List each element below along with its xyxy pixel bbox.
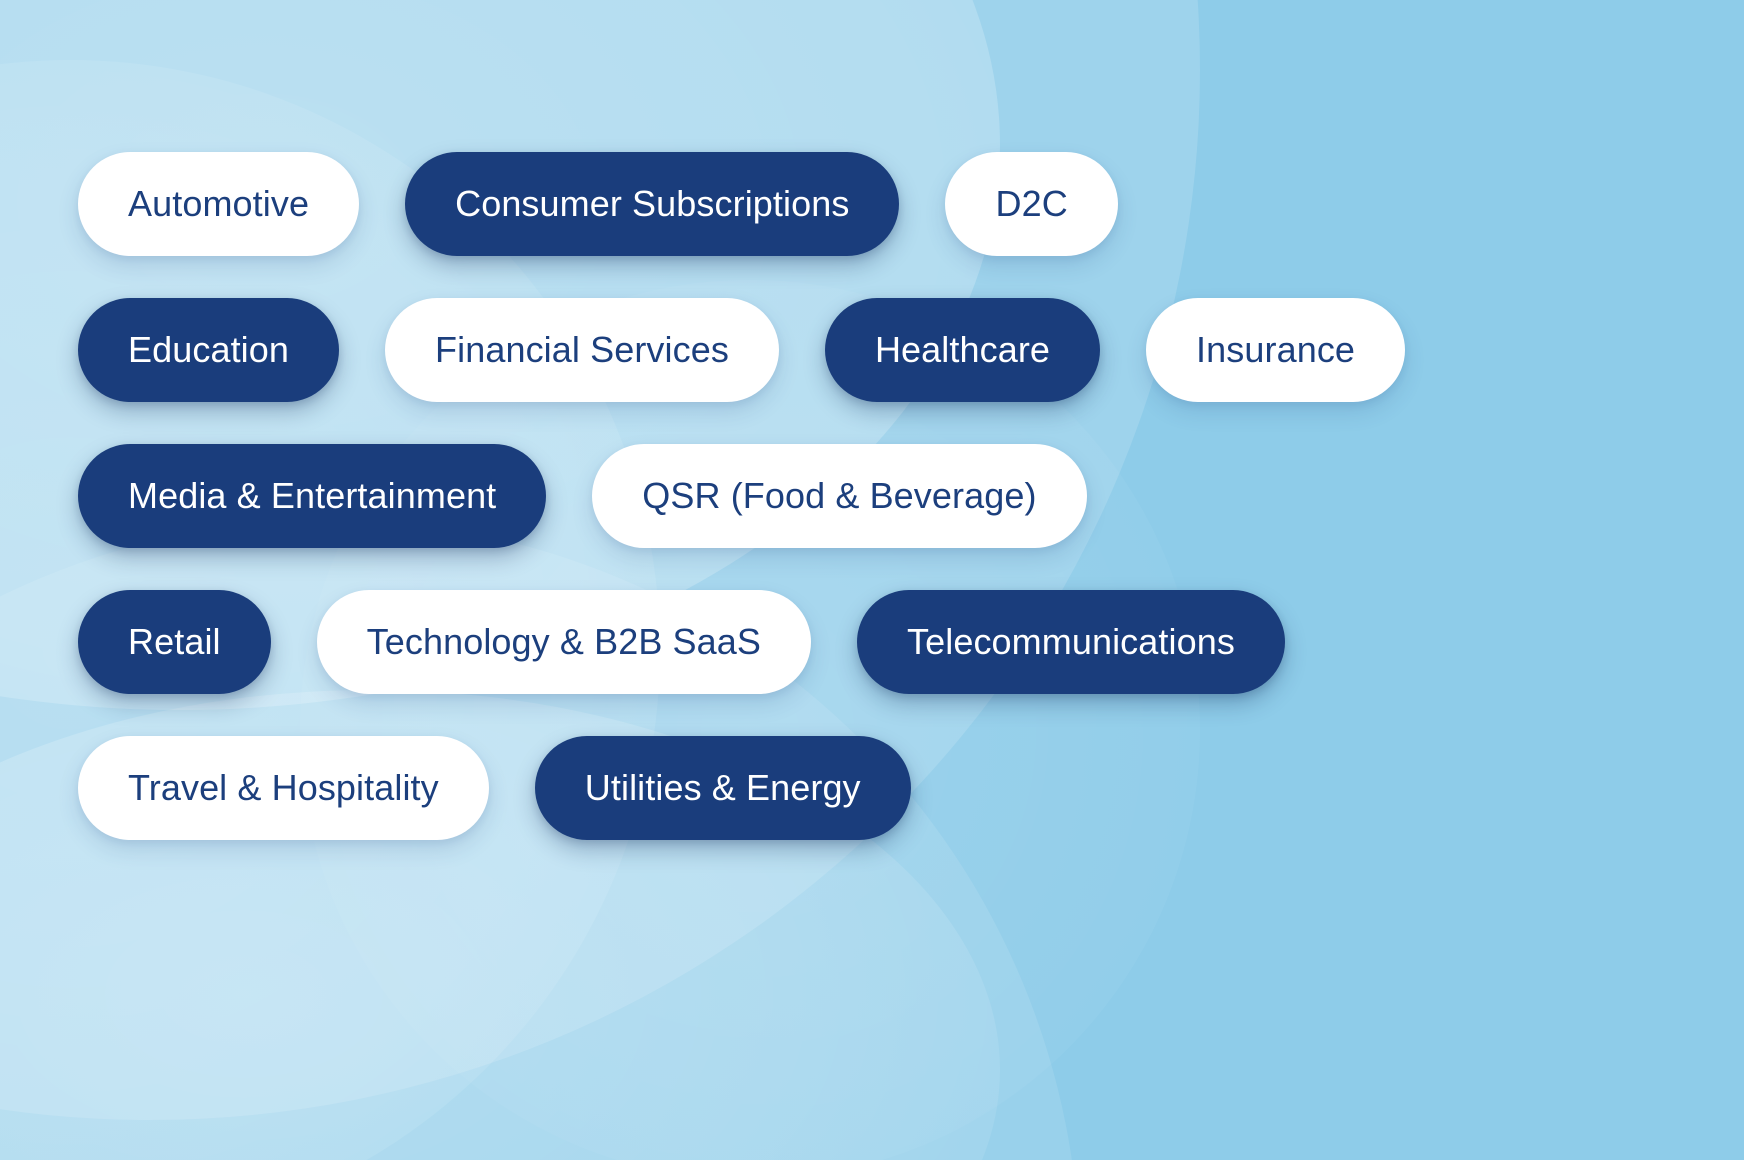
tag-insurance[interactable]: Insurance bbox=[1146, 298, 1405, 402]
tag-healthcare[interactable]: Healthcare bbox=[825, 298, 1100, 402]
tag-travel-and-hospitality[interactable]: Travel & Hospitality bbox=[78, 736, 489, 840]
tag-automotive[interactable]: Automotive bbox=[78, 152, 359, 256]
tag-label: Insurance bbox=[1196, 332, 1355, 368]
tag-row: Automotive Consumer Subscriptions D2C bbox=[78, 152, 1538, 256]
tag-row: Travel & Hospitality Utilities & Energy bbox=[78, 736, 1538, 840]
tag-telecommunications[interactable]: Telecommunications bbox=[857, 590, 1285, 694]
tag-row: Retail Technology & B2B SaaS Telecommuni… bbox=[78, 590, 1538, 694]
tag-label: Automotive bbox=[128, 186, 309, 222]
tag-label: Healthcare bbox=[875, 332, 1050, 368]
tag-label: Travel & Hospitality bbox=[128, 770, 439, 806]
tag-label: Telecommunications bbox=[907, 624, 1235, 660]
industry-tag-cloud-canvas: Automotive Consumer Subscriptions D2C Ed… bbox=[0, 0, 1744, 1160]
tag-qsr-food-and-beverage[interactable]: QSR (Food & Beverage) bbox=[592, 444, 1086, 548]
tag-label: Education bbox=[128, 332, 289, 368]
tag-d2c[interactable]: D2C bbox=[945, 152, 1117, 256]
tag-label: Financial Services bbox=[435, 332, 729, 368]
tag-label: Utilities & Energy bbox=[585, 770, 861, 806]
tag-label: Consumer Subscriptions bbox=[455, 186, 849, 222]
tag-technology-and-b2b-saas[interactable]: Technology & B2B SaaS bbox=[317, 590, 811, 694]
tag-financial-services[interactable]: Financial Services bbox=[385, 298, 779, 402]
tag-education[interactable]: Education bbox=[78, 298, 339, 402]
tag-label: Retail bbox=[128, 624, 221, 660]
tag-consumer-subscriptions[interactable]: Consumer Subscriptions bbox=[405, 152, 899, 256]
tag-label: Technology & B2B SaaS bbox=[367, 624, 761, 660]
tag-label: QSR (Food & Beverage) bbox=[642, 478, 1036, 514]
tag-utilities-and-energy[interactable]: Utilities & Energy bbox=[535, 736, 911, 840]
tag-label: D2C bbox=[995, 186, 1067, 222]
tag-row: Education Financial Services Healthcare … bbox=[78, 298, 1538, 402]
tag-row: Media & Entertainment QSR (Food & Bevera… bbox=[78, 444, 1538, 548]
tag-cloud: Automotive Consumer Subscriptions D2C Ed… bbox=[78, 152, 1538, 840]
tag-label: Media & Entertainment bbox=[128, 478, 496, 514]
tag-media-and-entertainment[interactable]: Media & Entertainment bbox=[78, 444, 546, 548]
tag-retail[interactable]: Retail bbox=[78, 590, 271, 694]
